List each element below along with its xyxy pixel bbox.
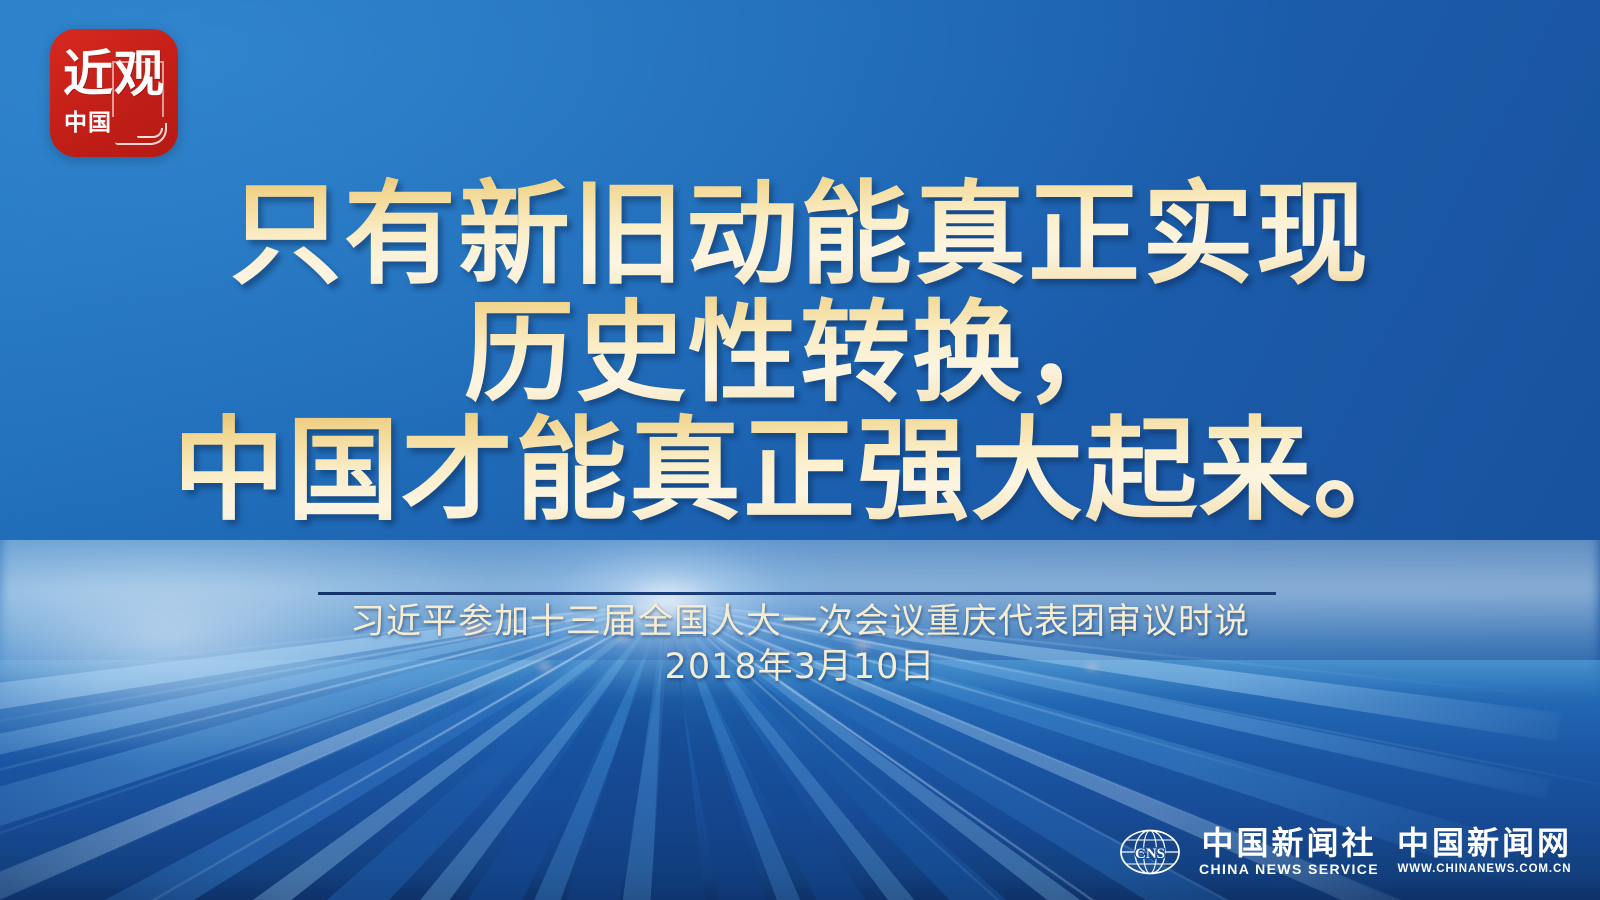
agency-block: 中国新闻社 CHINA NEWS SERVICE	[1199, 826, 1379, 878]
cns-globe-label: CNS	[1135, 846, 1165, 862]
cns-globe-icon: CNS	[1119, 827, 1181, 877]
headline-block: 只有新旧动能真正实现 历史性转换， 中国才能真正强大起来。	[0, 176, 1600, 530]
program-logo[interactable]: 近观 中国	[50, 29, 178, 157]
headline-line-2: 历史性转换，	[0, 294, 1600, 412]
footer-branding: CNS 中国新闻社 CHINA NEWS SERVICE 中国新闻网 WWW.C…	[1119, 826, 1572, 878]
site-name-cn: 中国新闻网	[1397, 826, 1572, 860]
logo-sub-text: 中国	[64, 103, 112, 137]
headline-line-3: 中国才能真正强大起来。	[0, 412, 1600, 530]
poster-canvas: 近观 中国 只有新旧动能真正实现 历史性转换， 中国才能真正强大起来。 习近平参…	[0, 0, 1600, 900]
agency-name-cn: 中国新闻社	[1201, 826, 1376, 860]
attribution-divider	[318, 592, 1276, 595]
site-block[interactable]: 中国新闻网 WWW.CHINANEWS.COM.CN	[1397, 826, 1572, 878]
site-url: WWW.CHINANEWS.COM.CN	[1398, 860, 1572, 878]
logo-main-text: 近观	[50, 47, 178, 101]
attribution-source: 习近平参加十三届全国人大一次会议重庆代表团审议时说	[0, 600, 1600, 644]
attribution-date: 2018年3月10日	[0, 644, 1600, 690]
headline-line-1: 只有新旧动能真正实现	[0, 176, 1600, 294]
agency-name-en: CHINA NEWS SERVICE	[1199, 860, 1379, 878]
attribution-block: 习近平参加十三届全国人大一次会议重庆代表团审议时说 2018年3月10日	[0, 600, 1600, 690]
